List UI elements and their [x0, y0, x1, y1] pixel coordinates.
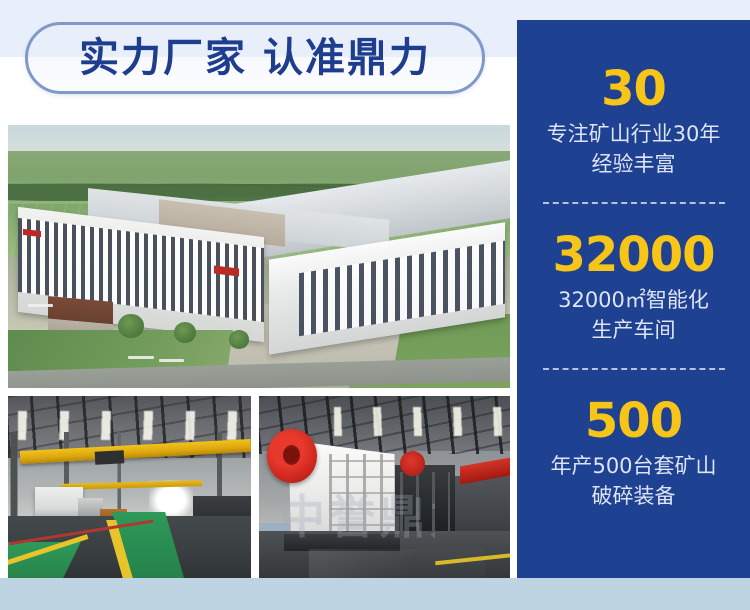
bottom-background-band [0, 578, 750, 610]
stat-desc-1: 专注矿山行业30年 经验丰富 [527, 120, 740, 180]
stat-desc-3-line2: 破碎装备 [527, 482, 740, 512]
parked-car [128, 356, 153, 359]
stat-desc-2: 32000㎡智能化 生产车间 [527, 286, 740, 346]
stats-panel: 30 专注矿山行业30年 经验丰富 32000 32000㎡智能化 生产车间 5… [517, 20, 750, 578]
stat-number-1: 30 [527, 64, 740, 114]
promo-banner-page: 实力厂家 认准鼎力 [0, 0, 750, 610]
crane-hoist [95, 450, 125, 464]
black-crusher-ribs [400, 472, 450, 538]
parked-car [28, 304, 53, 307]
stat-desc-2-line2: 生产车间 [527, 316, 740, 346]
red-flywheel-secondary [400, 451, 425, 476]
headline-text: 实力厂家 认准鼎力 [79, 38, 431, 78]
stat-desc-3-line1: 年产500台套矿山 [527, 452, 740, 482]
tree-icon [118, 314, 143, 338]
photo-collage: 中誉鼎力 [8, 125, 510, 578]
far-equipment [455, 476, 510, 534]
stat-divider-2 [543, 368, 725, 370]
stat-block-2: 32000 32000㎡智能化 生产车间 [517, 230, 750, 346]
crusher-rib-horizontal [329, 454, 394, 541]
photo-crusher-line: 中誉鼎力 [259, 396, 510, 578]
headline-pill: 实力厂家 认准鼎力 [25, 22, 485, 94]
stat-desc-1-line2: 经验丰富 [527, 150, 740, 180]
stat-desc-1-line1: 专注矿山行业30年 [527, 120, 740, 150]
stat-desc-3: 年产500台套矿山 破碎装备 [527, 452, 740, 512]
stat-block-3: 500 年产500台套矿山 破碎装备 [517, 396, 750, 512]
photo-aerial-factory [8, 125, 510, 388]
stat-divider-1 [543, 202, 725, 204]
photo-workshop-interior [8, 396, 251, 578]
stat-number-2: 32000 [527, 230, 740, 280]
parked-car [159, 359, 184, 362]
stat-number-3: 500 [527, 396, 740, 446]
stat-desc-2-line1: 32000㎡智能化 [527, 286, 740, 316]
floor-reflection [309, 549, 485, 578]
stat-block-1: 30 专注矿山行业30年 经验丰富 [517, 64, 750, 180]
ceiling-lights [334, 407, 510, 436]
tree-icon [229, 330, 249, 348]
